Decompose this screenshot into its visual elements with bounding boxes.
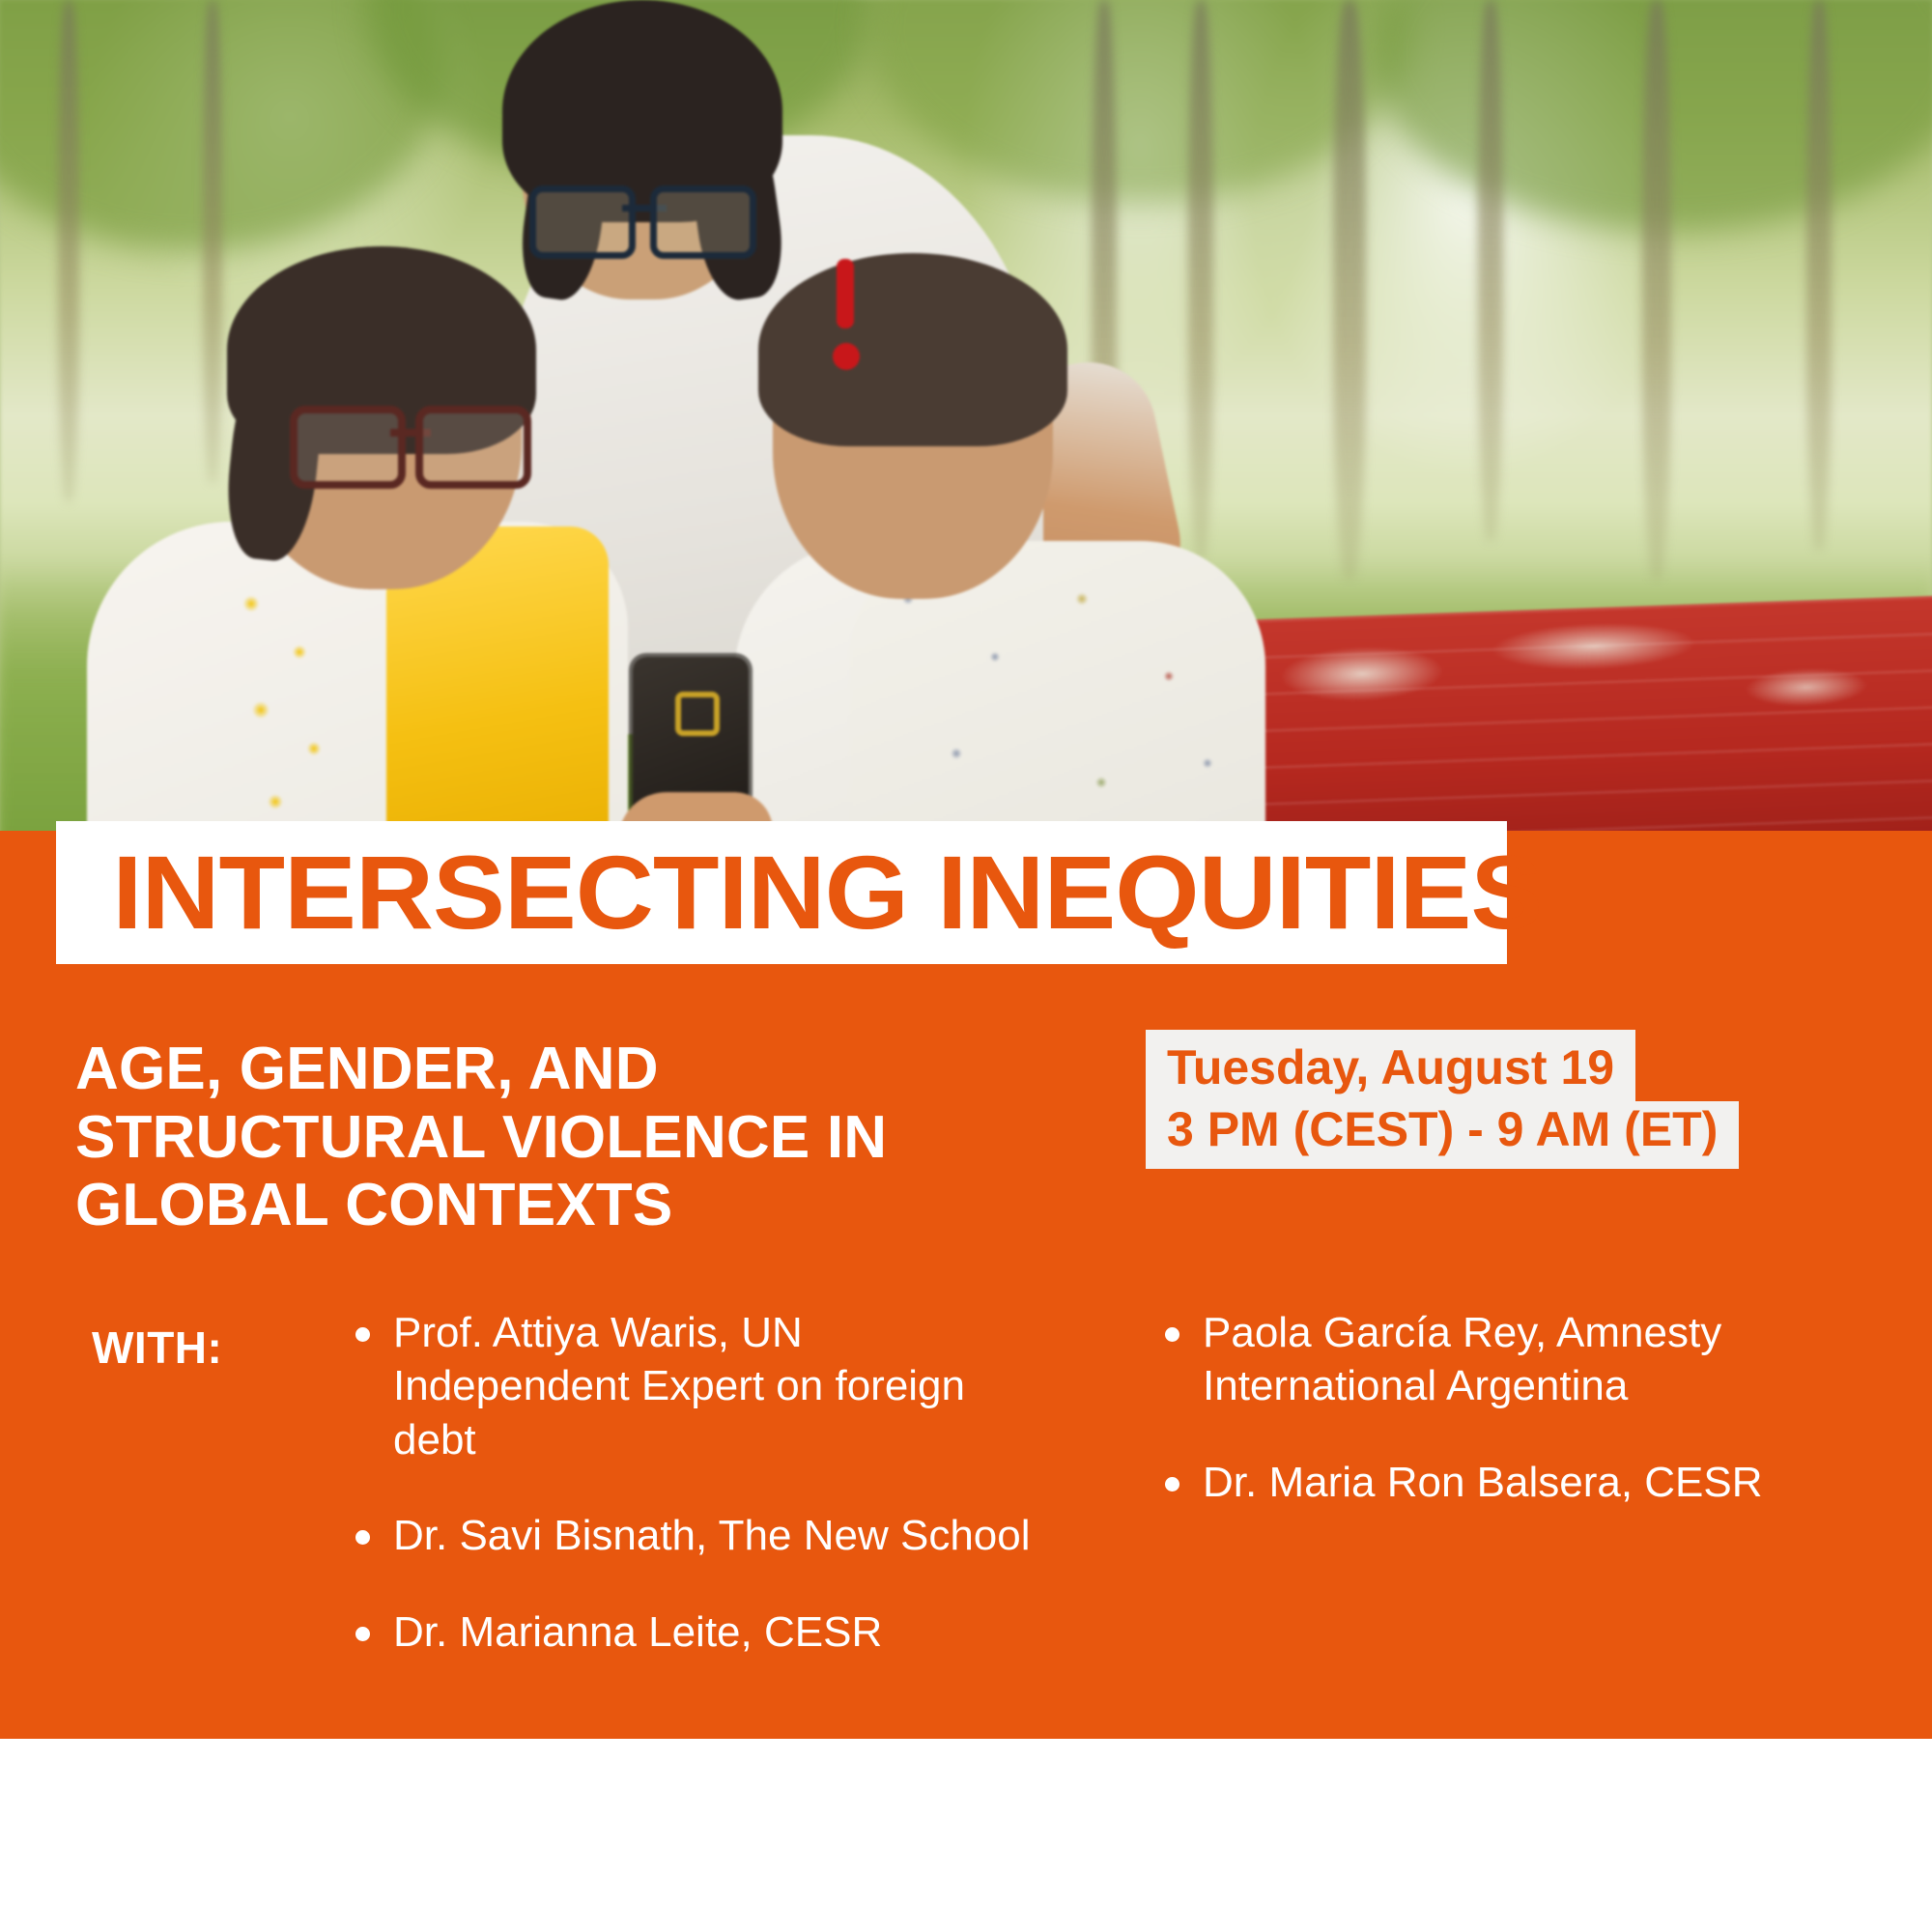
list-item: Dr. Marianna Leite, CESR — [350, 1605, 1045, 1659]
event-datetime: Tuesday, August 19 3 PM (CEST) - 9 AM (E… — [1146, 1030, 1739, 1169]
footer-bar: CENTERfor ECONOMICand SOCIAL RIGHTS — [0, 1739, 1932, 1932]
eyeglasses-icon — [290, 406, 531, 475]
eyeglasses-icon — [529, 185, 756, 247]
hero-photo — [0, 0, 1932, 850]
bullet-icon — [355, 1327, 370, 1342]
event-poster: INTERSECTING INEQUITIES AGE, GENDER, AND… — [0, 0, 1932, 1932]
title-banner: INTERSECTING INEQUITIES — [56, 821, 1507, 964]
subtitle-line-1: AGE, GENDER, AND — [75, 1036, 1041, 1104]
event-date: Tuesday, August 19 — [1146, 1030, 1635, 1101]
speaker-name: Dr. Savi Bisnath, The New School — [393, 1512, 1031, 1559]
page-title: INTERSECTING INEQUITIES — [56, 840, 1542, 945]
person-right-bindi — [833, 343, 860, 370]
person-right-hair — [758, 253, 1067, 446]
speakers-column-right: Paola García Rey, Amnesty International … — [1159, 1306, 1835, 1509]
list-item: Paola García Rey, Amnesty International … — [1159, 1306, 1835, 1413]
list-item: Prof. Attiya Waris, UN Independent Exper… — [350, 1306, 1045, 1466]
subtitle-line-2: STRUCTURAL VIOLENCE IN — [75, 1104, 1041, 1173]
event-time: 3 PM (CEST) - 9 AM (ET) — [1146, 1101, 1739, 1169]
subtitle-line-3: GLOBAL CONTEXTS — [75, 1172, 1041, 1240]
speaker-name: Dr. Maria Ron Balsera, CESR — [1203, 1459, 1763, 1506]
speakers-label: WITH: — [92, 1321, 222, 1374]
bullet-icon — [1165, 1477, 1179, 1492]
bullet-icon — [1165, 1327, 1179, 1342]
list-item: Dr. Maria Ron Balsera, CESR — [1159, 1456, 1835, 1509]
person-left-embroidery — [222, 565, 386, 850]
bullet-icon — [355, 1530, 370, 1545]
bullet-icon — [355, 1627, 370, 1641]
person-right-sindoor — [837, 259, 854, 328]
event-subtitle: AGE, GENDER, AND STRUCTURAL VIOLENCE IN … — [75, 1036, 1041, 1240]
list-item: Dr. Savi Bisnath, The New School — [350, 1509, 1045, 1562]
people-group — [0, 0, 1932, 850]
speaker-name: Paola García Rey, Amnesty International … — [1203, 1309, 1721, 1409]
speaker-name: Prof. Attiya Waris, UN Independent Exper… — [393, 1309, 965, 1463]
speakers-column-left: Prof. Attiya Waris, UN Independent Exper… — [350, 1306, 1045, 1659]
speaker-name: Dr. Marianna Leite, CESR — [393, 1608, 882, 1656]
